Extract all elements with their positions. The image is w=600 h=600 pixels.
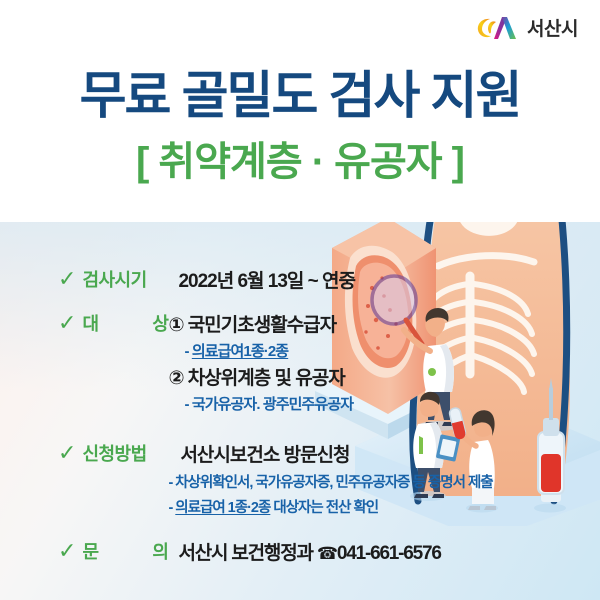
label-char: 의 <box>152 538 168 564</box>
city-logo-text: 서산시 <box>527 14 578 41</box>
info-row-apply-method: ✓ 신청방법 서산시보건소 방문신청 - 차상위확인서, 국가유공자증, 민주유… <box>58 440 493 517</box>
label-char: 상 <box>152 310 168 336</box>
info-label-target: 대 상 <box>82 310 168 336</box>
apply-note-2: - 의료급여 1종·2종 대상자는 전산 확인 <box>168 496 492 517</box>
seosan-city-emblem-icon <box>476 15 520 41</box>
target-item-1: ① 국민기초생활수급자 <box>168 310 353 337</box>
apply-note-1: - 차상위확인서, 국가유공자증, 민주유공자증 등 증명서 제출 <box>168 471 492 492</box>
info-value-target: ① 국민기초생활수급자 - 의료급여1종·2종 ② 차상위계층 및 유공자 - … <box>168 310 353 414</box>
check-icon: ✓ <box>58 268 76 290</box>
label-char: 문 <box>82 538 98 564</box>
info-row-target: ✓ 대 상 ① 국민기초생활수급자 - 의료급여1종·2종 ② 차상위계층 및 … <box>58 310 353 414</box>
target-item-2: ② 차상위계층 및 유공자 <box>168 363 353 390</box>
target-item-1-sub-text: 의료급여1종·2종 <box>192 343 288 360</box>
info-row-contact: ✓ 문 의 서산시 보건행정과 ☎041-661-6576 <box>58 538 441 565</box>
info-row-period: ✓ 검사시기 2022년 6월 13일 ~ 연중 <box>58 266 355 293</box>
info-list: ✓ 검사시기 2022년 6월 13일 ~ 연중 ✓ 대 상 ① 국민기초생활수… <box>0 222 600 600</box>
contact-line: 서산시 보건행정과 ☎041-661-6576 <box>178 538 440 565</box>
apply-note-2-rest: 대상자는 전산 확인 <box>270 500 378 516</box>
info-value-apply-method: 서산시보건소 방문신청 - 차상위확인서, 국가유공자증, 민주유공자증 등 증… <box>168 440 492 517</box>
label-char: 대 <box>82 310 98 336</box>
page-title: 무료 골밀도 검사 지원 <box>0 68 600 123</box>
dash: - <box>184 343 191 360</box>
info-label-apply-method: 신청방법 <box>82 440 168 466</box>
target-item-2-sub: - 국가유공자. 광주민주유공자 <box>168 393 353 414</box>
check-icon: ✓ <box>58 540 76 562</box>
poster-header: 서산시 무료 골밀도 검사 지원 [ 취약계층 · 유공자 ] <box>0 0 600 222</box>
contact-org: 서산시 보건행정과 <box>178 543 312 564</box>
contact-phone: 041-661-6576 <box>337 543 441 564</box>
check-icon: ✓ <box>58 312 76 334</box>
target-item-2-sub-text: 국가유공자. 광주민주유공자 <box>192 396 353 413</box>
phone-icon: ☎ <box>317 544 337 563</box>
info-label-contact: 문 의 <box>82 538 168 564</box>
poster-root: 서산시 무료 골밀도 검사 지원 [ 취약계층 · 유공자 ] ✓ 검사시기 2… <box>0 0 600 600</box>
apply-method-value: 서산시보건소 방문신청 <box>180 440 492 467</box>
page-subtitle: [ 취약계층 · 유공자 ] <box>0 140 600 184</box>
info-value-period: 2022년 6월 13일 ~ 연중 <box>168 266 355 293</box>
city-logo: 서산시 <box>476 14 578 41</box>
target-item-1-sub: - 의료급여1종·2종 <box>168 340 353 361</box>
info-label-period: 검사시기 <box>82 266 168 292</box>
apply-note-2-underline: 의료급여 1종·2종 <box>175 500 270 516</box>
dash: - <box>184 396 191 413</box>
check-icon: ✓ <box>58 442 76 464</box>
period-value: 2022년 6월 13일 ~ 연중 <box>178 266 355 293</box>
info-value-contact: 서산시 보건행정과 ☎041-661-6576 <box>168 538 440 565</box>
